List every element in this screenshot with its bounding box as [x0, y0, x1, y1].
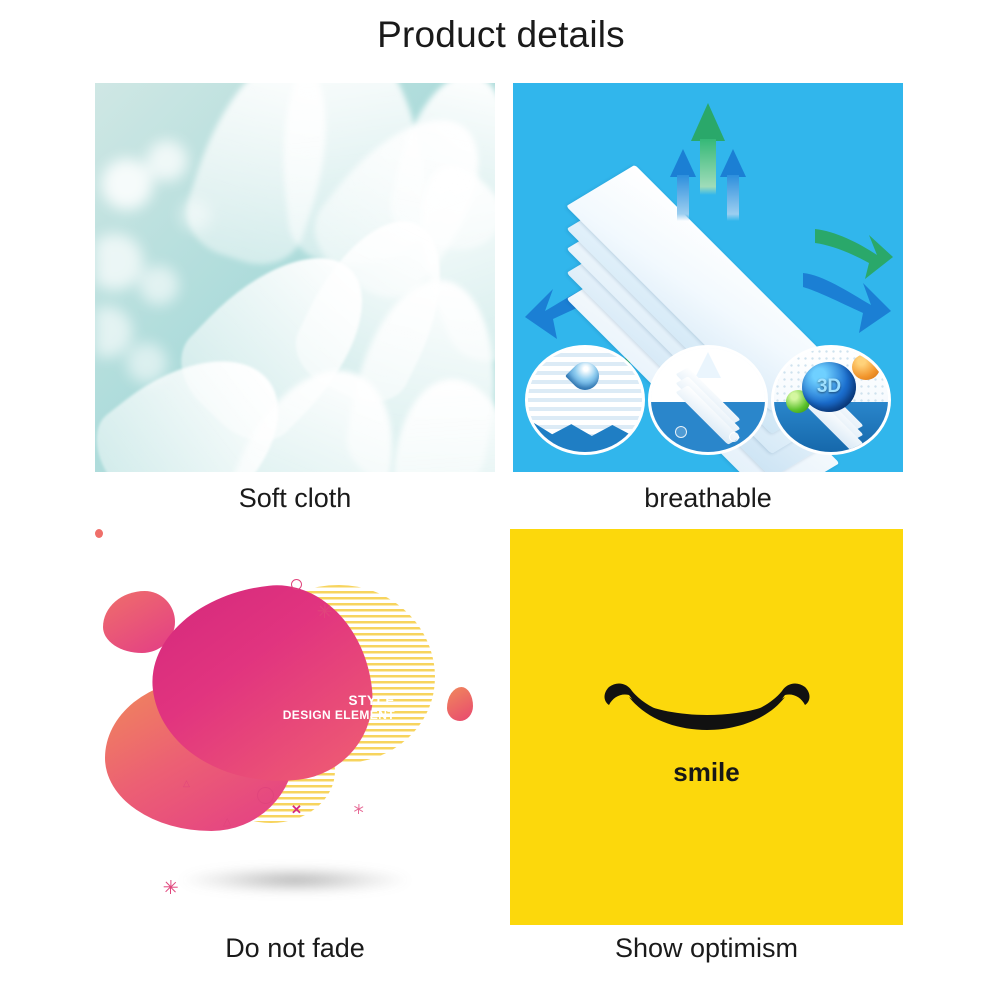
peak-icon [695, 352, 721, 378]
rising-arrow-group [608, 95, 808, 225]
three-d-badge: 3D [771, 345, 891, 455]
graphic-text-style: STYLE [215, 693, 395, 709]
caption-show-optimism: Show optimism [510, 933, 903, 964]
smile-graphic: smile [510, 529, 903, 925]
cross-decoration: ✕ [291, 803, 302, 816]
caption-do-not-fade: Do not fade [95, 933, 495, 964]
graphic-text-design-element: DESIGN ELEMENT [215, 709, 395, 723]
three-d-label: 3D [802, 362, 856, 412]
smile-curve-icon [599, 681, 815, 751]
feather-photo [95, 83, 495, 472]
bubble [675, 426, 687, 438]
graphic-text-block: STYLE DESIGN ELEMENT [215, 693, 395, 722]
sparkle-decoration [353, 804, 363, 814]
orange-particle [852, 354, 880, 380]
ring-decoration [257, 787, 274, 804]
caption-soft-cloth: Soft cloth [95, 483, 495, 514]
triangle-decoration: △ [183, 779, 190, 788]
bubble [736, 360, 745, 369]
drop-shadow [180, 867, 410, 893]
triangle-decoration: △ [223, 817, 231, 828]
abstract-gradient-graphic: STYLE DESIGN ELEMENT ✕ △ △ [95, 529, 495, 925]
bubble [729, 432, 739, 442]
breathable-diagram: 3D [513, 83, 903, 472]
gradient-dot [95, 529, 103, 538]
water-droplet-badge [525, 345, 645, 455]
layered-sheet-badge [648, 345, 768, 455]
sparkle-decoration [163, 880, 177, 894]
mini-layer-stack [671, 382, 745, 422]
airflow-arrow-up-blue [670, 149, 696, 221]
airflow-arrow-up-blue [720, 149, 746, 221]
caption-breathable: breathable [513, 483, 903, 514]
feature-badge-row: 3D [525, 346, 891, 454]
page-title: Product details [0, 14, 1002, 56]
bubble [669, 356, 680, 367]
sparkle-decoration [317, 604, 331, 618]
smile-label: smile [510, 757, 903, 788]
ring-decoration [291, 579, 302, 590]
gradient-blob-tiny [447, 687, 473, 721]
